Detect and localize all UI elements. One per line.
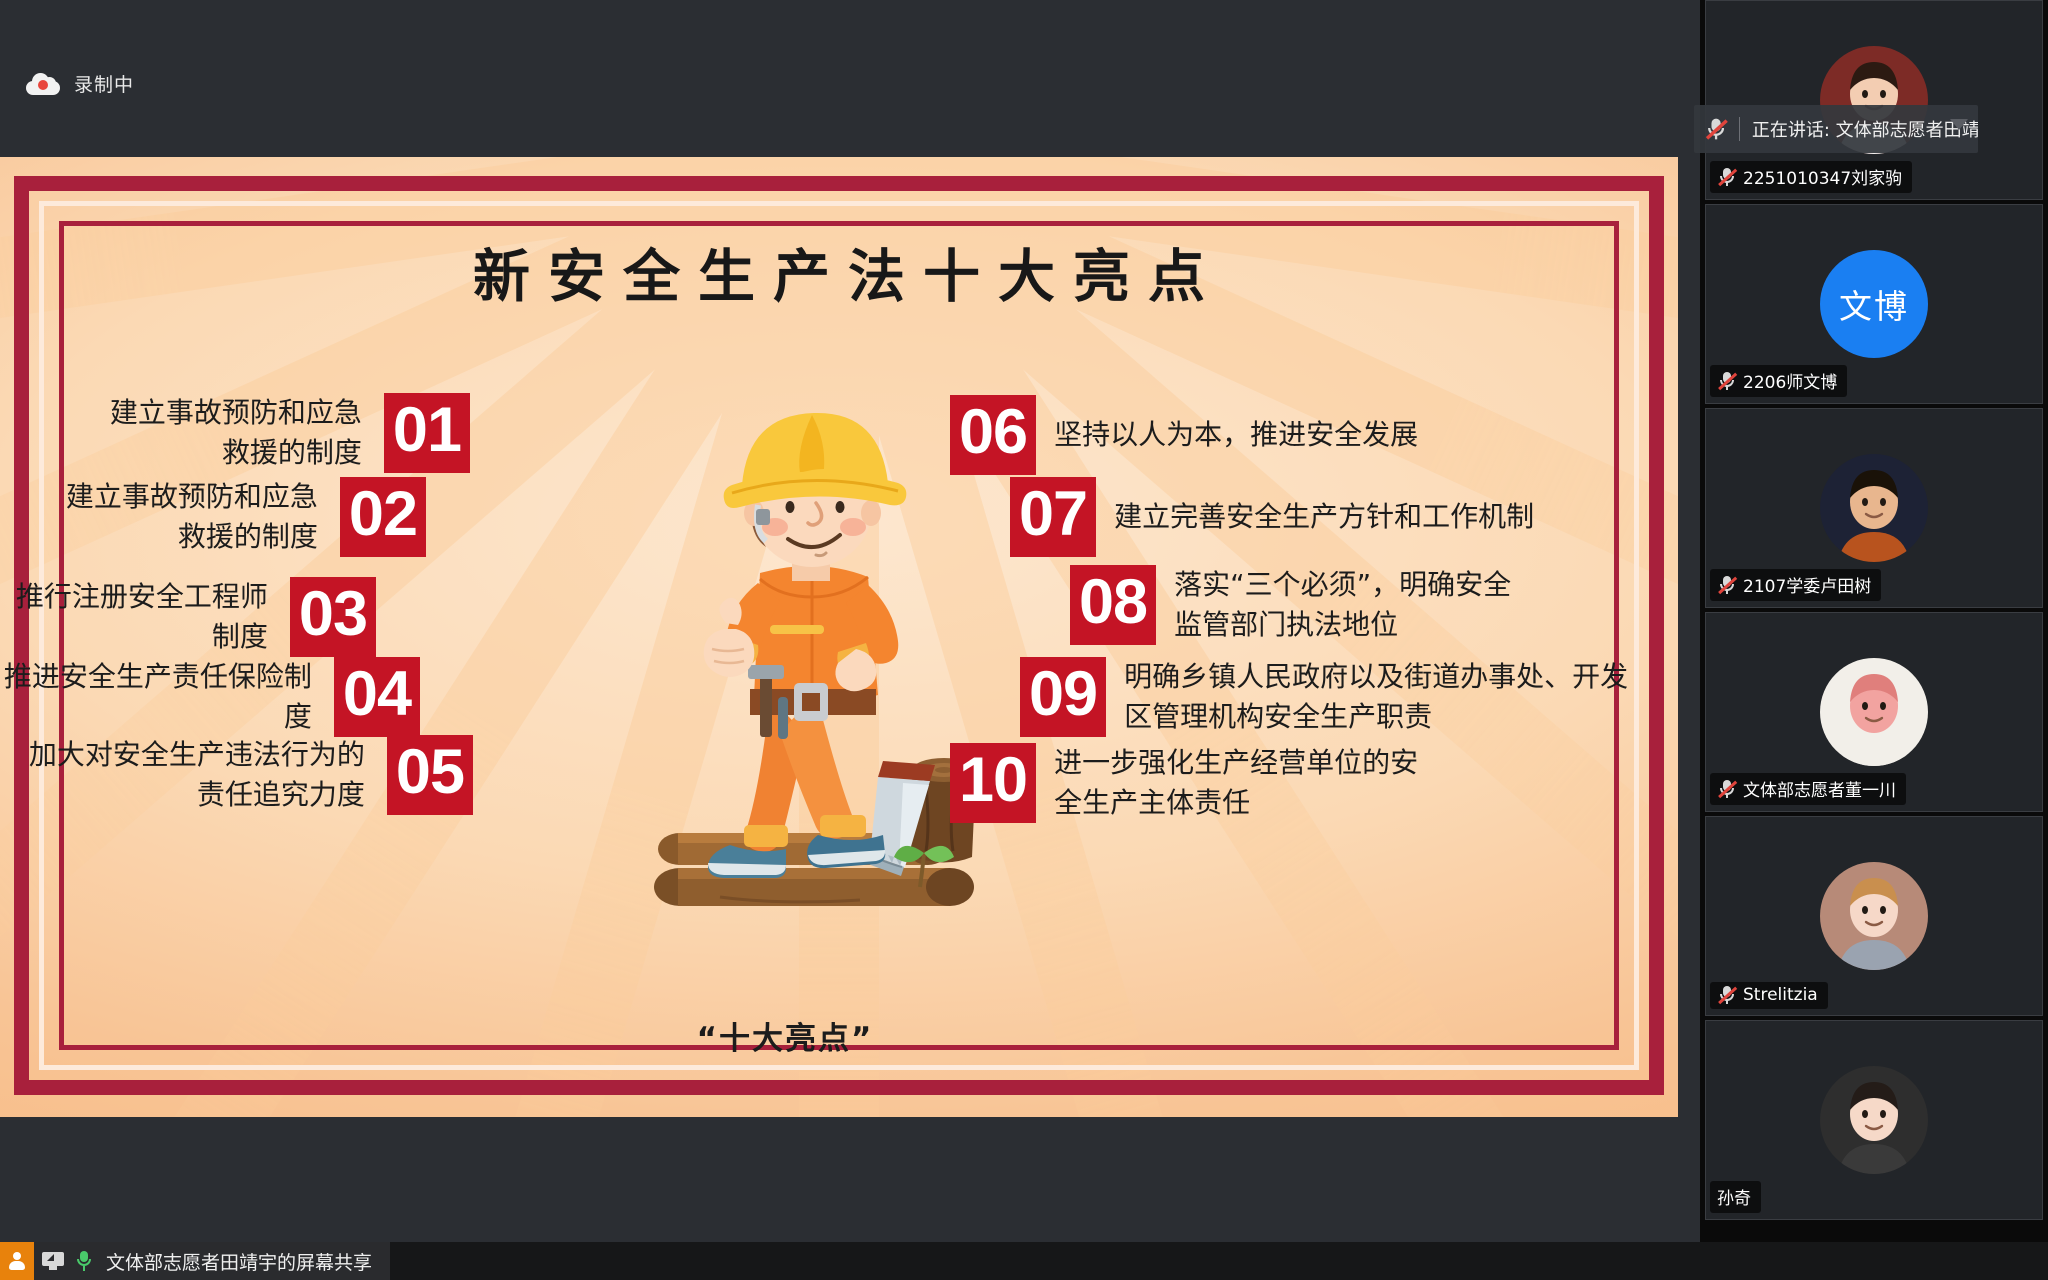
highlight-number-badge: 01 <box>384 393 470 473</box>
highlight-number-badge: 08 <box>1070 565 1156 645</box>
highlight-item-04: 推进安全生产责任保险制度04 <box>0 657 420 737</box>
participant-name: 2251010347刘家驹 <box>1743 164 1902 189</box>
speaking-label: 正在讲话: 文体部志愿者田靖宇; <box>1752 116 1978 142</box>
highlight-text: 加大对安全生产违法行为的 责任追究力度 <box>29 735 387 815</box>
highlight-number-badge: 04 <box>334 657 420 737</box>
taskbar-label: 文体部志愿者田靖宇的屏幕共享 <box>106 1248 372 1275</box>
highlight-item-06: 06坚持以人为本，推进安全发展 <box>950 395 1418 475</box>
presentation-slide[interactable]: 新安全生产法十大亮点 <box>0 157 1678 1117</box>
taskbar: 文体部志愿者田靖宇的屏幕共享 <box>0 1242 2048 1280</box>
highlight-item-10: 10进一步强化生产经营单位的安 全生产主体责任 <box>950 743 1418 823</box>
highlight-item-07: 07建立完善安全生产方针和工作机制 <box>1010 477 1534 557</box>
avatar <box>1820 454 1928 562</box>
participant-rail[interactable]: 2251010347刘家驹文博2206师文博2107学委卢田树文体部志愿者董一川… <box>1700 0 2048 1280</box>
slide-title: 新安全生产法十大亮点 <box>0 231 1678 313</box>
participant-name-chip: 文体部志愿者董一川 <box>1710 773 1906 805</box>
mic-muted-icon <box>1717 371 1736 391</box>
highlight-text: 建立事故预防和应急 救援的制度 <box>110 393 384 473</box>
highlight-text: 落实“三个必须”，明确安全 监管部门执法地位 <box>1156 565 1511 645</box>
speaking-indicator: 正在讲话: 文体部志愿者田靖宇; <box>1694 105 1978 153</box>
mic-on-icon[interactable] <box>76 1251 92 1271</box>
mic-muted-icon <box>1717 985 1736 1005</box>
avatar <box>1820 658 1928 766</box>
participant-tile[interactable]: 2251010347刘家驹 <box>1705 0 2043 200</box>
highlight-number-badge: 06 <box>950 395 1036 475</box>
shared-screen-area: 录制中 新安全生产法十大亮点 <box>0 0 1678 1280</box>
screen-share-icon[interactable] <box>42 1252 64 1270</box>
highlight-number-badge: 03 <box>290 577 376 657</box>
highlight-text: 进一步强化生产经营单位的安 全生产主体责任 <box>1036 743 1418 823</box>
highlight-item-03: 推行注册安全工程师制度03 <box>0 577 376 657</box>
participant-name-chip: 2206师文博 <box>1710 365 1847 397</box>
highlight-number-badge: 02 <box>340 477 426 557</box>
participant-tile[interactable]: Strelitzia <box>1705 816 2043 1016</box>
highlight-number-badge: 07 <box>1010 477 1096 557</box>
highlight-text: 建立事故预防和应急 救援的制度 <box>66 477 340 557</box>
worker-illustration <box>620 397 1020 997</box>
highlight-number-badge: 09 <box>1020 657 1106 737</box>
participant-name-chip: 2251010347刘家驹 <box>1710 161 1912 193</box>
chevron-down-icon[interactable] <box>1950 119 1968 130</box>
participant-tile[interactable]: 孙奇 <box>1705 1020 2043 1220</box>
highlight-item-08: 08落实“三个必须”，明确安全 监管部门执法地位 <box>1070 565 1511 645</box>
participant-tile[interactable]: 文博2206师文博 <box>1705 204 2043 404</box>
mic-muted-icon <box>1717 779 1736 799</box>
participant-name: 孙奇 <box>1717 1184 1751 1209</box>
highlight-text: 建立完善安全生产方针和工作机制 <box>1096 497 1534 537</box>
recording-label: 录制中 <box>74 70 134 97</box>
participant-name: 2206师文博 <box>1743 368 1837 393</box>
highlight-item-05: 加大对安全生产违法行为的 责任追究力度05 <box>29 735 473 815</box>
meeting-window: 录制中 新安全生产法十大亮点 <box>0 0 2048 1280</box>
center-caption: “十大亮点” <box>640 1013 930 1058</box>
cloud-record-icon <box>26 73 60 95</box>
highlight-number-badge: 10 <box>950 743 1036 823</box>
participant-name-chip: Strelitzia <box>1710 982 1828 1009</box>
recording-bar: 录制中 <box>0 0 1678 157</box>
highlight-text: 推进安全生产责任保险制度 <box>0 657 334 737</box>
highlight-number-badge: 05 <box>387 735 473 815</box>
participant-name: 文体部志愿者董一川 <box>1743 776 1896 801</box>
highlight-text: 坚持以人为本，推进安全发展 <box>1036 415 1418 455</box>
highlight-text: 明确乡镇人民政府以及街道办事处、开发 区管理机构安全生产职责 <box>1106 657 1628 737</box>
avatar <box>1820 1066 1928 1174</box>
avatar: 文博 <box>1820 250 1928 358</box>
participants-icon[interactable] <box>0 1242 34 1280</box>
highlight-text: 推行注册安全工程师制度 <box>0 577 290 657</box>
highlight-item-02: 建立事故预防和应急 救援的制度02 <box>66 477 426 557</box>
participant-name: 2107学委卢田树 <box>1743 572 1871 597</box>
participant-name-chip: 孙奇 <box>1710 1181 1761 1213</box>
taskbar-share-item[interactable]: 文体部志愿者田靖宇的屏幕共享 <box>0 1242 390 1280</box>
mic-muted-icon <box>1705 118 1727 141</box>
highlight-item-01: 建立事故预防和应急 救援的制度01 <box>110 393 470 473</box>
avatar <box>1820 862 1928 970</box>
participant-name: Strelitzia <box>1743 985 1818 1005</box>
mic-muted-icon <box>1717 575 1736 595</box>
participant-name-chip: 2107学委卢田树 <box>1710 569 1881 601</box>
mic-muted-icon <box>1717 167 1736 187</box>
highlight-item-09: 09明确乡镇人民政府以及街道办事处、开发 区管理机构安全生产职责 <box>1020 657 1628 737</box>
participant-tile[interactable]: 2107学委卢田树 <box>1705 408 2043 608</box>
participant-tile[interactable]: 文体部志愿者董一川 <box>1705 612 2043 812</box>
